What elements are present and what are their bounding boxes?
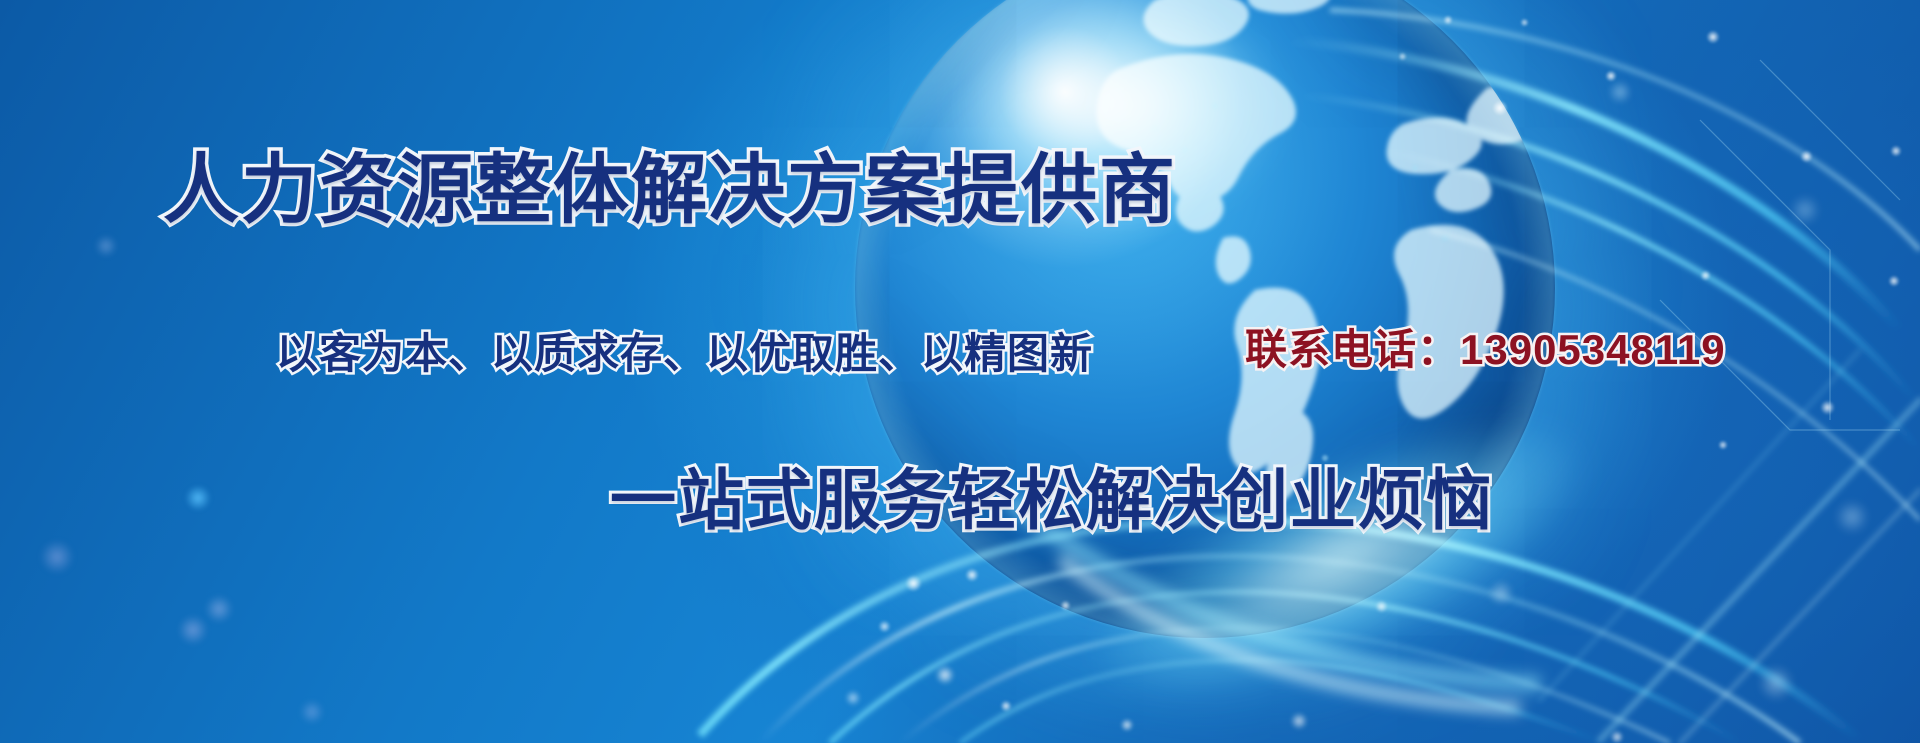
banner-subtitle-slogan: 以客为本、以质求存、以优取胜、以精图新 <box>276 320 1093 381</box>
banner-headline: 人力资源整体解决方案提供商 <box>163 128 1177 238</box>
hero-banner: 人力资源整体解决方案提供商 以客为本、以质求存、以优取胜、以精图新 联系电话：1… <box>0 0 1920 743</box>
globe-bottom-glow <box>1066 372 1614 743</box>
contact-phone-text[interactable]: 联系电话：13905348119 <box>1245 316 1726 377</box>
banner-tagline: 一站式服务轻松解决创业烦恼 <box>610 447 1494 543</box>
